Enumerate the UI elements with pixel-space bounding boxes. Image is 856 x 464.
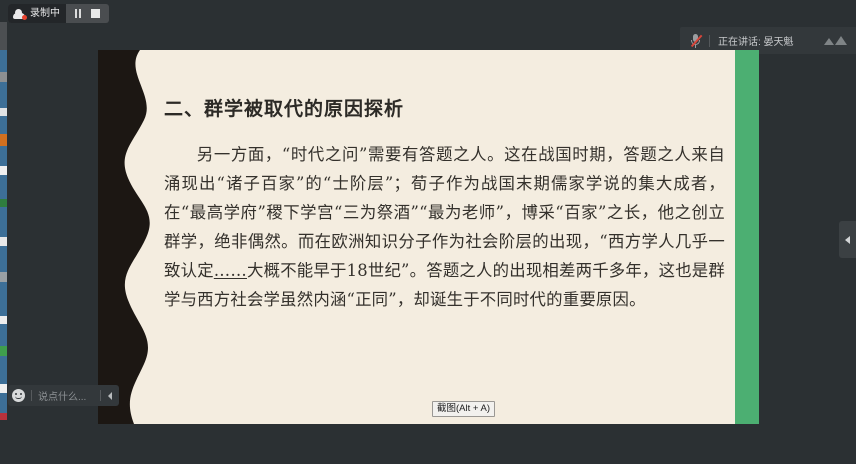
audio-wave-icon (824, 36, 847, 45)
chat-input-bar[interactable]: 说点什么... (8, 385, 119, 406)
slide-body-part2: 大概不能早于18世纪”。答题之人的出现相差两千多年，这也是群学与西方社会学虽然内… (164, 261, 725, 309)
slide-content: 二、群学被取代的原因探析 另一方面，“时代之问”需要有答题之人。这在战国时期，答… (162, 50, 735, 424)
chevron-left-icon[interactable] (108, 392, 112, 400)
slide-body-underlined: …… (214, 261, 247, 280)
recording-status: 录制中 (8, 4, 66, 23)
meeting-screen-share-window: 录制中 正在讲话: 晏天魁 二、群学被取代的原因探析 另一方面，“时代之问”需要… (0, 0, 856, 464)
divider (100, 390, 101, 401)
slide-body-text: 另一方面，“时代之问”需要有答题之人。这在战国时期，答题之人来自涌现出“诸子百家… (164, 140, 725, 314)
smiley-icon[interactable] (12, 389, 25, 402)
slide-scalloped-border (98, 50, 160, 424)
slide-body-part1: 另一方面，“时代之问”需要有答题之人。这在战国时期，答题之人来自涌现出“诸子百家… (164, 145, 725, 280)
stop-recording-button[interactable] (91, 9, 100, 18)
background-window-sliver (0, 22, 7, 420)
side-panel-toggle[interactable] (839, 221, 856, 258)
divider (709, 35, 710, 47)
cloud-record-icon (13, 9, 26, 19)
recording-label: 录制中 (30, 4, 60, 23)
slide-title: 二、群学被取代的原因探析 (164, 94, 725, 121)
slide-accent-bar (735, 50, 759, 424)
shared-slide-stage: 二、群学被取代的原因探析 另一方面，“时代之问”需要有答题之人。这在战国时期，答… (98, 50, 759, 424)
recording-toolbar[interactable]: 录制中 (8, 4, 109, 23)
chevron-left-icon (845, 236, 850, 244)
screenshot-tooltip: 截图(Alt + A) (432, 401, 495, 417)
divider (31, 390, 32, 401)
pause-recording-button[interactable] (75, 9, 81, 18)
active-speaker-label: 正在讲话: 晏天魁 (718, 33, 794, 48)
chat-input-placeholder[interactable]: 说点什么... (38, 388, 86, 403)
mic-muted-icon (690, 33, 701, 48)
